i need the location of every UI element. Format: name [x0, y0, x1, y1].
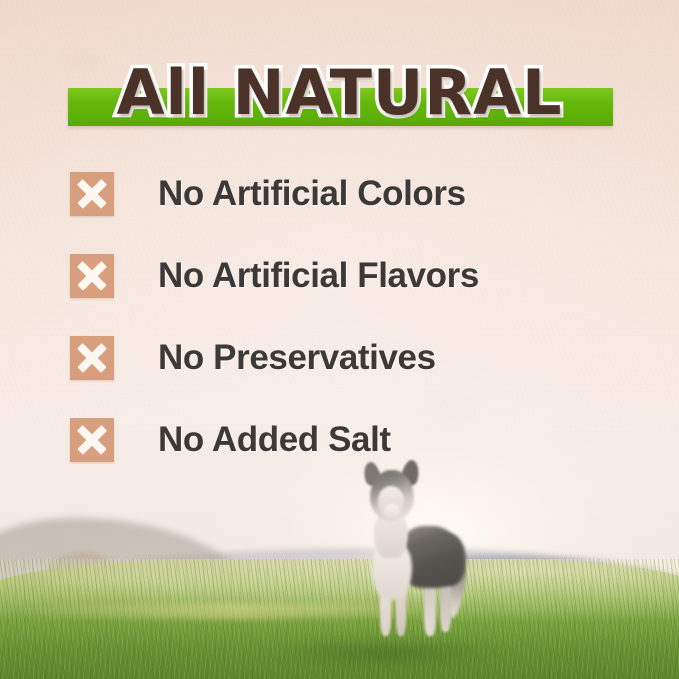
ground-shadow — [231, 631, 543, 675]
claim-label: No Preservatives — [158, 338, 436, 378]
claim-item: No Added Salt — [70, 418, 630, 462]
claims-list: No Artificial Colors No Artificial Flavo… — [70, 172, 630, 500]
claim-item: No Artificial Flavors — [70, 254, 630, 298]
x-mark-icon — [70, 254, 114, 298]
product-feature-poster: All NATURAL No Artificial Colors No Arti… — [0, 0, 679, 679]
claim-label: No Artificial Flavors — [158, 256, 479, 296]
headline-banner: All NATURAL — [0, 52, 679, 138]
x-mark-icon — [70, 418, 114, 462]
x-mark-icon — [70, 336, 114, 380]
claim-label: No Added Salt — [158, 420, 391, 460]
dog-muzzle — [384, 504, 400, 520]
headline-text: All NATURAL — [0, 52, 679, 134]
claim-item: No Artificial Colors — [70, 172, 630, 216]
claim-label: No Artificial Colors — [158, 174, 466, 214]
claim-item: No Preservatives — [70, 336, 630, 380]
x-mark-icon — [70, 172, 114, 216]
